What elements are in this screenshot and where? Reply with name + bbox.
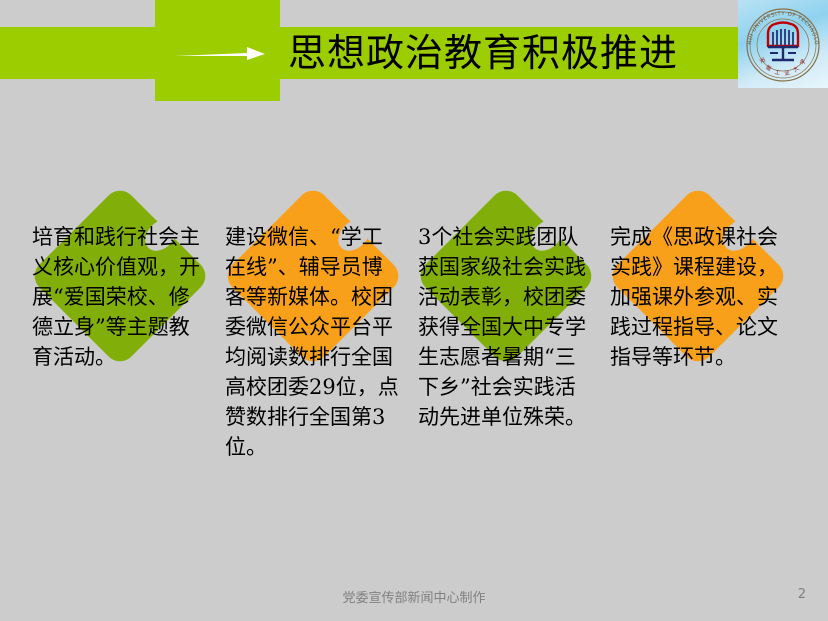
- page-title: 思想政治教育积极推进: [288, 26, 728, 80]
- slide-footer: 党委宣传部新闻中心制作 2: [0, 579, 828, 621]
- diamond-callout-1[interactable]: 培育和践行社会主义核心价值观，开展“爱国荣校、修德立身”等主题教育活动。: [22, 178, 218, 374]
- diamond-callout-3[interactable]: 3个社会实践团队获国家级社会实践活动表彰，校团委获得全国大中专学生志愿者暑期“三…: [408, 178, 604, 374]
- university-seal-icon: ANHUI UNIVERSITY OF TECHNOLOGY 安 徽 工 业 大…: [738, 0, 828, 88]
- presentation-slide: 思想政治教育积极推进 ANHUI UNIVERSITY OF TECHNOLOG…: [0, 0, 828, 621]
- diamond-text-3: 3个社会实践团队获国家级社会实践活动表彰，校团委获得全国大中专学生志愿者暑期“三…: [418, 222, 594, 432]
- diamond-text-4: 完成《思政课社会实践》课程建设，加强课外参观、实践过程指导、论文指导等环节。: [610, 222, 786, 372]
- diamond-text-1: 培育和践行社会主义核心价值观，开展“爱国荣校、修德立身”等主题教育活动。: [32, 222, 208, 372]
- diamond-callout-2[interactable]: 建设微信、“学工在线”、辅导员博客等新媒体。校团委微信公众平台平均阅读数排行全国…: [215, 178, 411, 374]
- diamond-text-2: 建设微信、“学工在线”、辅导员博客等新媒体。校团委微信公众平台平均阅读数排行全国…: [225, 222, 401, 462]
- diamond-callout-4[interactable]: 完成《思政课社会实践》课程建设，加强课外参观、实践过程指导、论文指导等环节。: [600, 178, 796, 374]
- slide-header: 思想政治教育积极推进 ANHUI UNIVERSITY OF TECHNOLOG…: [0, 0, 828, 110]
- slide-page-number: 2: [798, 587, 806, 602]
- footer-note: 党委宣传部新闻中心制作: [0, 587, 828, 606]
